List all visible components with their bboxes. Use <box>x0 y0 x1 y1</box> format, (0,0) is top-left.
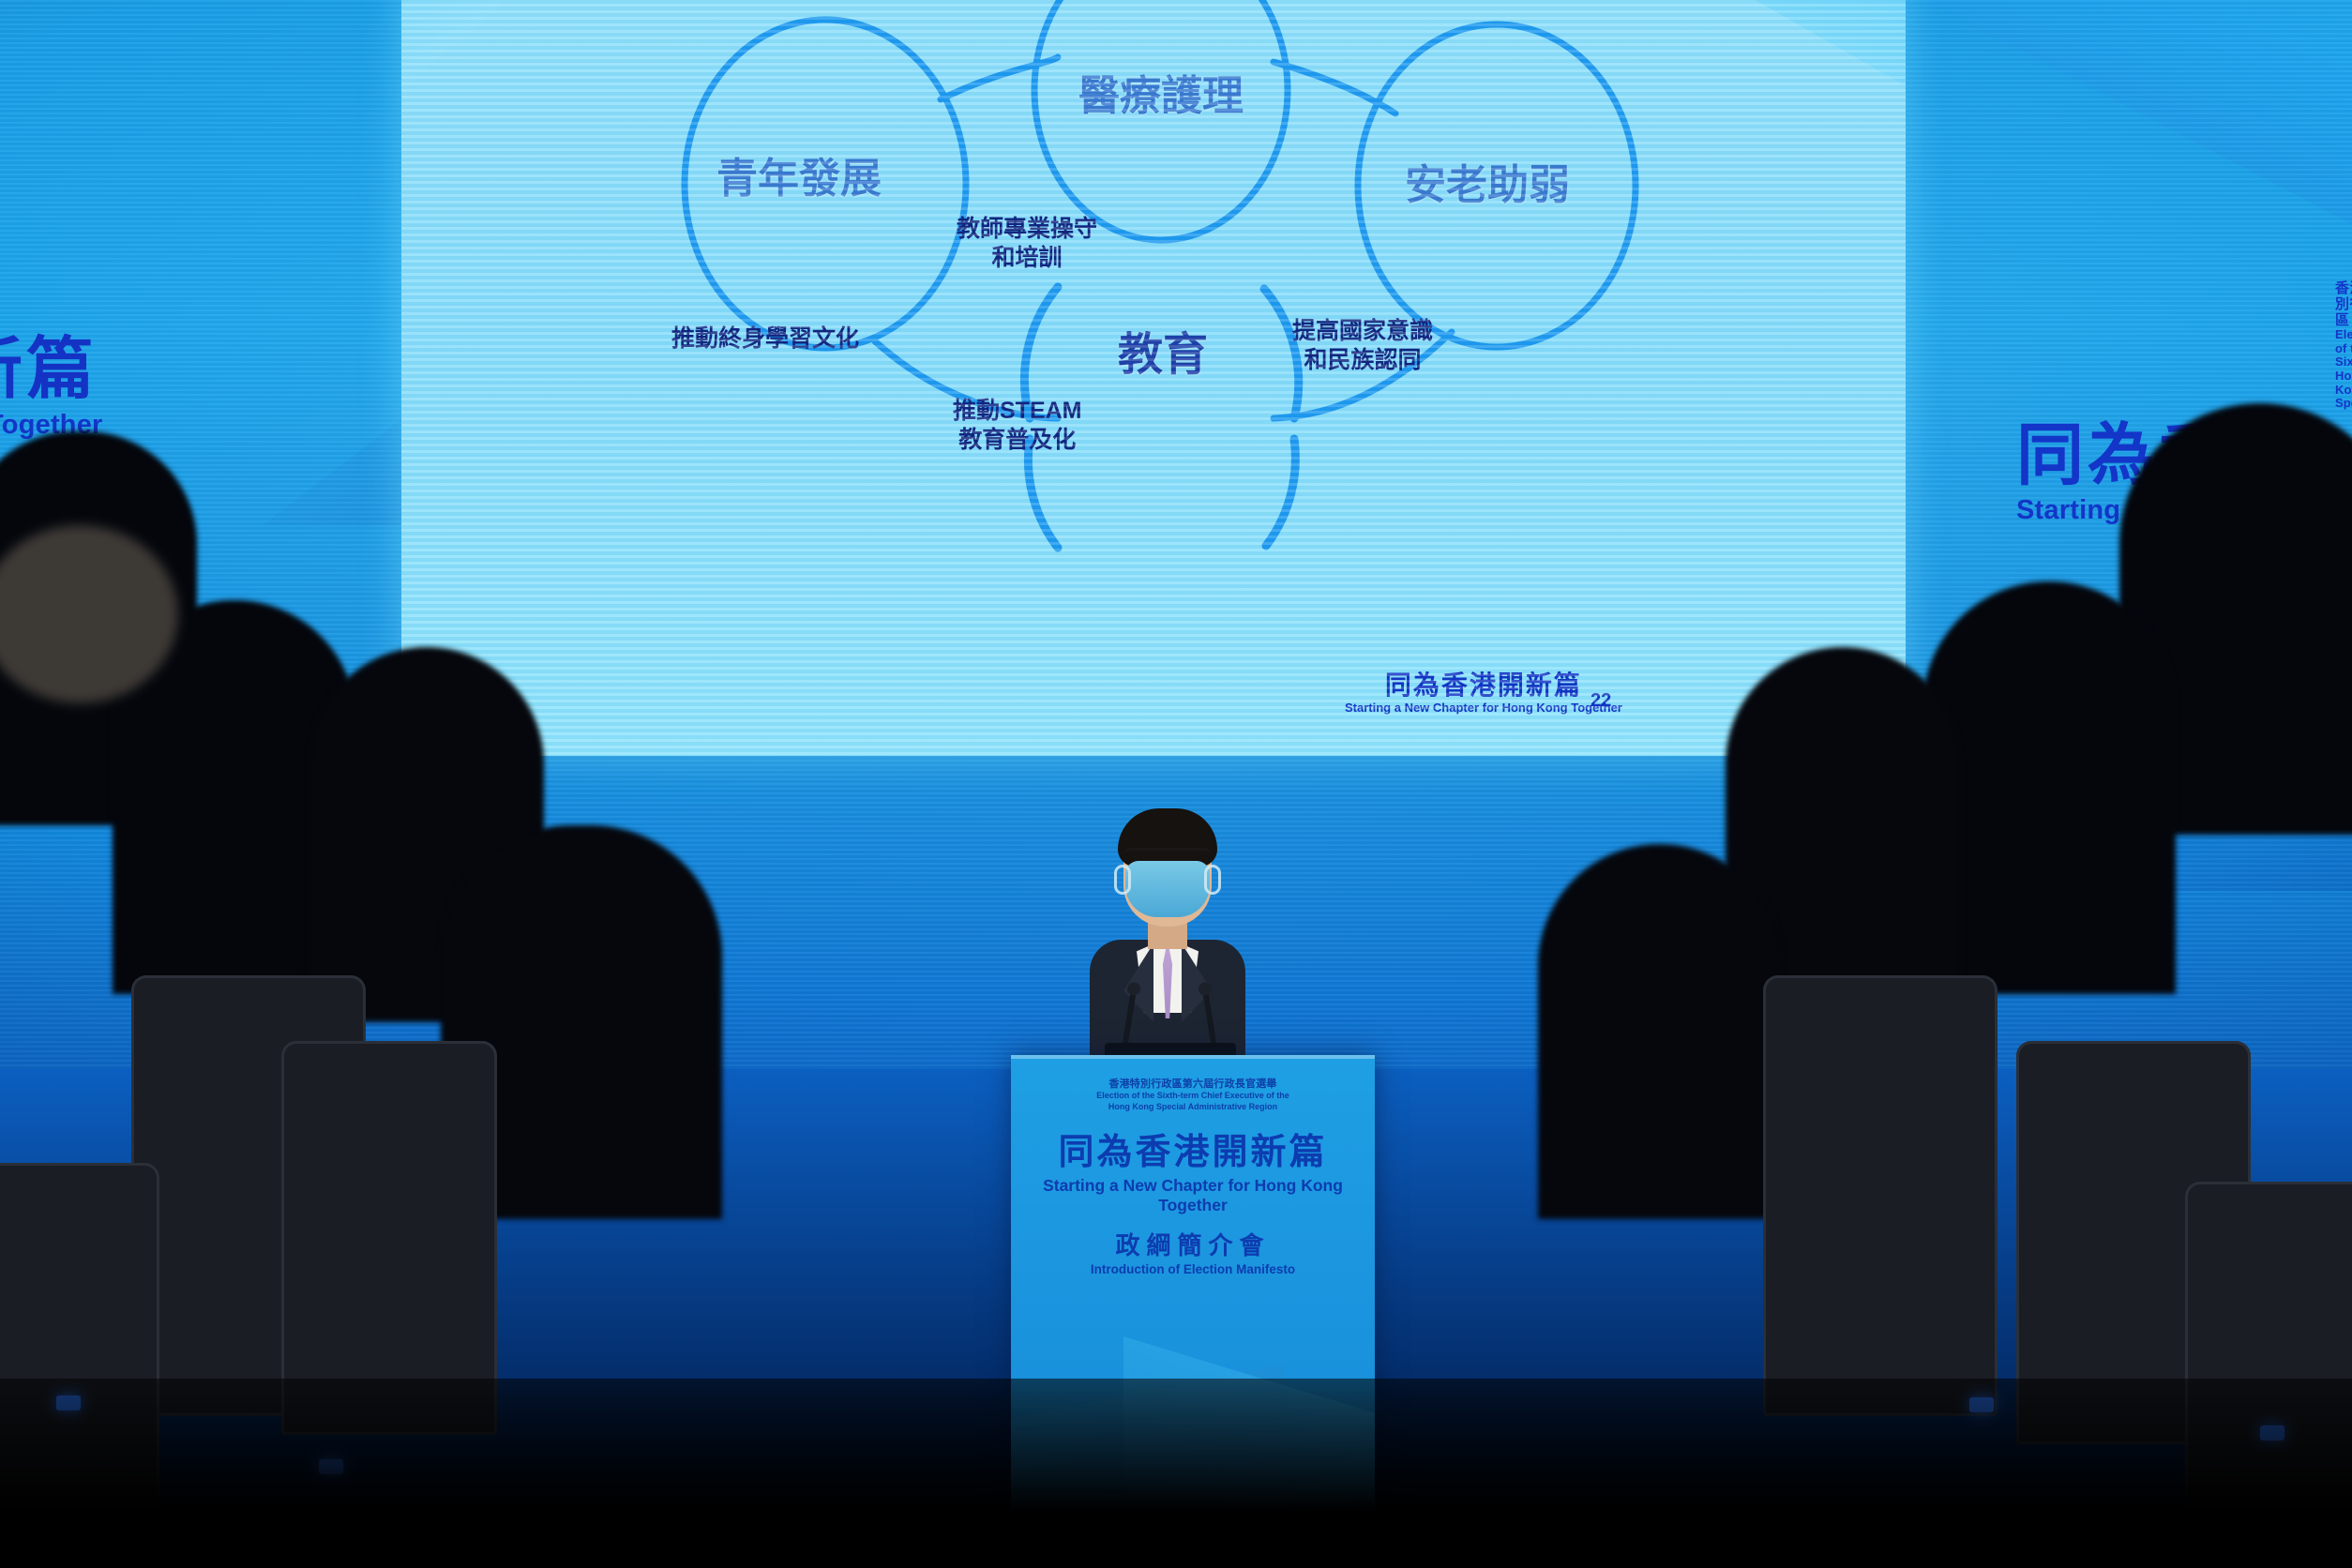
audience-silhouette-right-1 <box>1922 581 2176 994</box>
banner-right-small-cn: 香港特別行政區 <box>2335 281 2352 328</box>
projected-slide: 青年發展 醫療護理 安老助弱 教育 教師專業操守 和培訓 推動終身學習文化 提高… <box>401 0 1906 756</box>
podium-header-en-2: Hong Kong Special Administrative Region <box>1011 1102 1375 1113</box>
banner-left-small-en-2: Administrative Region <box>0 310 103 324</box>
foreground-dark-gradient <box>0 1379 2352 1568</box>
podium-title-cn: 同為香港開新篇 <box>1011 1123 1375 1174</box>
audience-silhouette-right-3 <box>1538 844 1782 1219</box>
podium-subtitle-cn: 政綱簡介會 <box>1011 1227 1375 1261</box>
face-mask-icon <box>1125 861 1210 917</box>
podium-header-cn: 香港特別行政區第六屆行政長官選舉 <box>1011 1076 1375 1091</box>
speaker-figure <box>1069 807 1266 1088</box>
banner-left-title-cn: 港開新篇 <box>0 332 103 408</box>
banner-right-small-en-1: Election of the Sixth- <box>2335 328 2352 369</box>
banner-right-small-en-2: Hong Kong Speci <box>2335 369 2352 411</box>
podium-title-en: Starting a New Chapter for Hong Kong Tog… <box>1011 1176 1375 1215</box>
banner-left-small-en-1: rm Chief Executive of the <box>0 297 103 311</box>
slide-scanline-overlay <box>401 0 1906 756</box>
conference-stage-scene: 屆第六屆行政長官選舉 rm Chief Executive of the Adm… <box>0 0 2352 1568</box>
podium-subtitle-en: Introduction of Election Manifesto <box>1011 1262 1375 1276</box>
podium-header-en-1: Election of the Sixth-term Chief Executi… <box>1011 1091 1375 1102</box>
banner-left-small-cn: 屆第六屆行政長官選舉 <box>0 281 103 297</box>
podium-top-edge <box>1011 1055 1375 1059</box>
audience-chair-2 <box>281 1041 497 1435</box>
audience-chair-4 <box>1763 975 1998 1416</box>
podium-text-block: 香港特別行政區第六屆行政長官選舉 Election of the Sixth-t… <box>1011 1076 1375 1276</box>
